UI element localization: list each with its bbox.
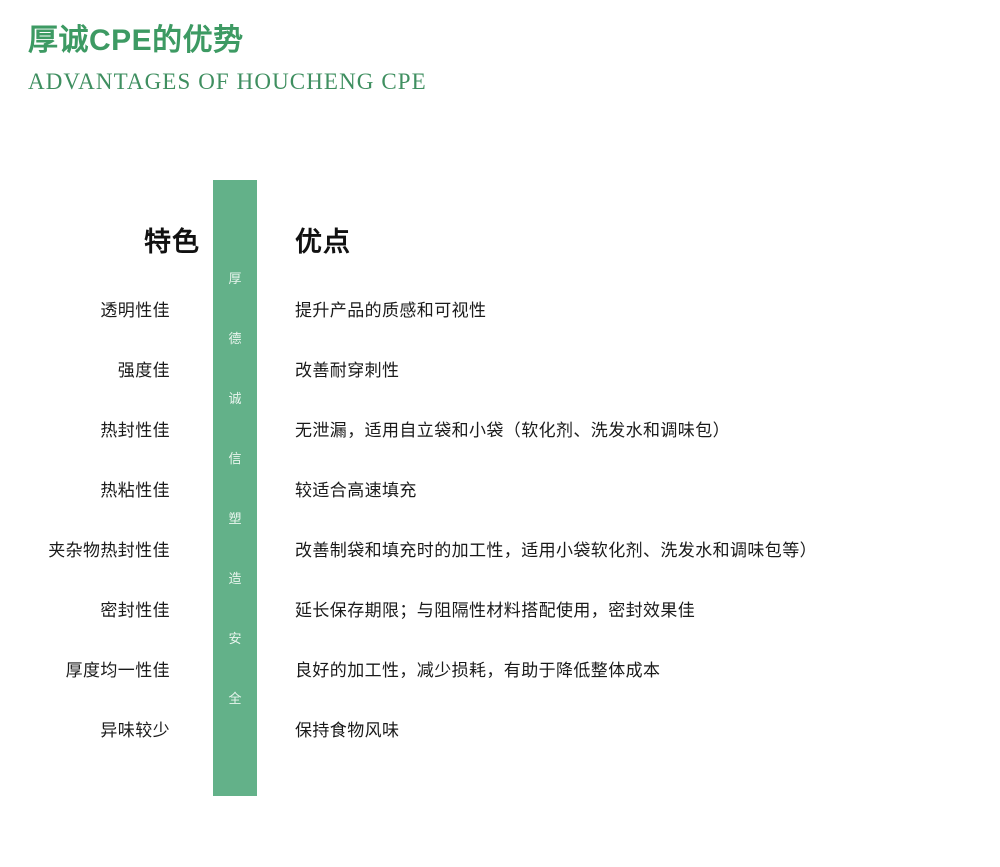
feature-cell: 异味较少 bbox=[0, 716, 170, 746]
advantages-table: 厚 德 诚 信 塑 造 安 全 特色 优点 透明性佳 提升产品的质感和可视性 强… bbox=[0, 0, 1000, 867]
feature-cell: 强度佳 bbox=[0, 356, 170, 386]
table-row: 热封性佳 无泄漏，适用自立袋和小袋（软化剂、洗发水和调味包） bbox=[0, 416, 1000, 476]
table-row: 异味较少 保持食物风味 bbox=[0, 716, 1000, 776]
table-body: 透明性佳 提升产品的质感和可视性 强度佳 改善耐穿刺性 热封性佳 无泄漏，适用自… bbox=[0, 296, 1000, 776]
feature-cell: 密封性佳 bbox=[0, 596, 170, 626]
benefit-cell: 改善制袋和填充时的加工性，适用小袋软化剂、洗发水和调味包等） bbox=[295, 536, 817, 566]
benefit-cell: 提升产品的质感和可视性 bbox=[295, 296, 486, 326]
table-row: 夹杂物热封性佳 改善制袋和填充时的加工性，适用小袋软化剂、洗发水和调味包等） bbox=[0, 536, 1000, 596]
feature-cell: 热粘性佳 bbox=[0, 476, 170, 506]
feature-cell: 透明性佳 bbox=[0, 296, 170, 326]
column-header-feature: 特色 bbox=[30, 220, 200, 259]
table-row: 密封性佳 延长保存期限；与阻隔性材料搭配使用，密封效果佳 bbox=[0, 596, 1000, 656]
feature-cell: 厚度均一性佳 bbox=[0, 656, 170, 686]
feature-cell: 热封性佳 bbox=[0, 416, 170, 446]
table-row: 强度佳 改善耐穿刺性 bbox=[0, 356, 1000, 416]
benefit-cell: 较适合高速填充 bbox=[295, 476, 417, 506]
benefit-cell: 延长保存期限；与阻隔性材料搭配使用，密封效果佳 bbox=[295, 596, 695, 626]
benefit-cell: 良好的加工性，减少损耗，有助于降低整体成本 bbox=[295, 656, 660, 686]
feature-cell: 夹杂物热封性佳 bbox=[0, 536, 170, 566]
table-row: 厚度均一性佳 良好的加工性，减少损耗，有助于降低整体成本 bbox=[0, 656, 1000, 716]
benefit-cell: 保持食物风味 bbox=[295, 716, 399, 746]
table-row: 热粘性佳 较适合高速填充 bbox=[0, 476, 1000, 536]
benefit-cell: 无泄漏，适用自立袋和小袋（软化剂、洗发水和调味包） bbox=[295, 416, 730, 446]
table-row: 透明性佳 提升产品的质感和可视性 bbox=[0, 296, 1000, 356]
benefit-cell: 改善耐穿刺性 bbox=[295, 356, 399, 386]
column-header-benefit: 优点 bbox=[295, 220, 351, 259]
